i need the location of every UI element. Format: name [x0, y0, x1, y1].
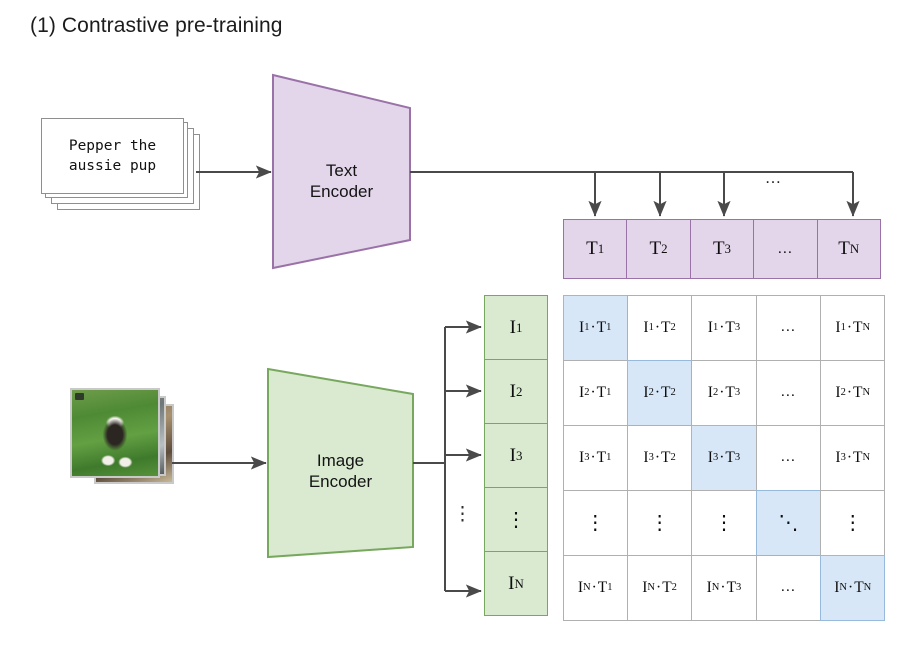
image-embedding-cell-2: I2 [484, 359, 548, 424]
image-embedding-column: I1I2I3⋮IN [484, 295, 548, 616]
similarity-cell-r1-c5: I1·TN [820, 295, 885, 361]
similarity-matrix: I1·T1I1·T2I1·T3…I1·TNI2·T1I2·T2I2·T3…I2·… [563, 295, 885, 620]
similarity-cell-r2-c3: I2·T3 [691, 360, 756, 426]
similarity-cell-r4-c3: ⋮ [691, 490, 756, 556]
similarity-cell-r5-c1: IN·T1 [563, 555, 628, 621]
image-encoder-label-line1: Image [268, 450, 413, 471]
similarity-cell-r5-c3: IN·T3 [691, 555, 756, 621]
page-title: (1) Contrastive pre-training [30, 14, 283, 38]
similarity-cell-r1-c1: I1·T1 [563, 295, 628, 361]
similarity-cell-r3-c3: I3·T3 [691, 425, 756, 491]
similarity-cell-r2-c4: … [756, 360, 821, 426]
text-encoder-label-line1: Text [273, 160, 410, 181]
photo-corner-mark [75, 393, 84, 400]
similarity-cell-r5-c4: … [756, 555, 821, 621]
text-encoder-shape [273, 75, 410, 268]
similarity-cell-r1-c4: … [756, 295, 821, 361]
similarity-cell-r1-c2: I1·T2 [627, 295, 692, 361]
similarity-cell-r2-c2: I2·T2 [627, 360, 692, 426]
similarity-cell-r2-c5: I2·TN [820, 360, 885, 426]
text-embedding-cell-3: T3 [690, 219, 754, 279]
text-card-front: Pepper the aussie pup [41, 118, 184, 194]
similarity-cell-r4-c1: ⋮ [563, 490, 628, 556]
similarity-cell-r1-c3: I1·T3 [691, 295, 756, 361]
similarity-cell-r4-c5: ⋮ [820, 490, 885, 556]
similarity-cell-r3-c1: I3·T1 [563, 425, 628, 491]
text-card-caption: Pepper the aussie pup [69, 136, 156, 176]
text-embedding-cell-1: T1 [563, 219, 627, 279]
similarity-cell-r5-c5: IN·TN [820, 555, 885, 621]
image-card-front-puppy-photo [70, 388, 160, 478]
text-embedding-row: T1T2T3…TN [563, 219, 881, 279]
similarity-cell-r2-c1: I2·T1 [563, 360, 628, 426]
image-embedding-cell-5: IN [484, 551, 548, 616]
text-bus-ellipsis: … [765, 170, 782, 188]
text-embedding-cell-4: … [753, 219, 817, 279]
image-embedding-cell-4: ⋮ [484, 487, 548, 552]
image-encoder-shape [268, 369, 413, 557]
image-embedding-cell-3: I3 [484, 423, 548, 488]
image-encoder-label-line2: Encoder [268, 471, 413, 492]
image-bus-ellipsis: ⋮ [453, 505, 472, 524]
similarity-cell-r4-c2: ⋮ [627, 490, 692, 556]
text-encoder-label-line2: Encoder [273, 181, 410, 202]
similarity-cell-r4-c4: ⋱ [756, 490, 821, 556]
text-embedding-cell-2: T2 [626, 219, 690, 279]
similarity-cell-r5-c2: IN·T2 [627, 555, 692, 621]
text-embedding-cell-5: TN [817, 219, 881, 279]
similarity-cell-r3-c5: I3·TN [820, 425, 885, 491]
similarity-cell-r3-c4: … [756, 425, 821, 491]
image-embedding-cell-1: I1 [484, 295, 548, 360]
similarity-cell-r3-c2: I3·T2 [627, 425, 692, 491]
